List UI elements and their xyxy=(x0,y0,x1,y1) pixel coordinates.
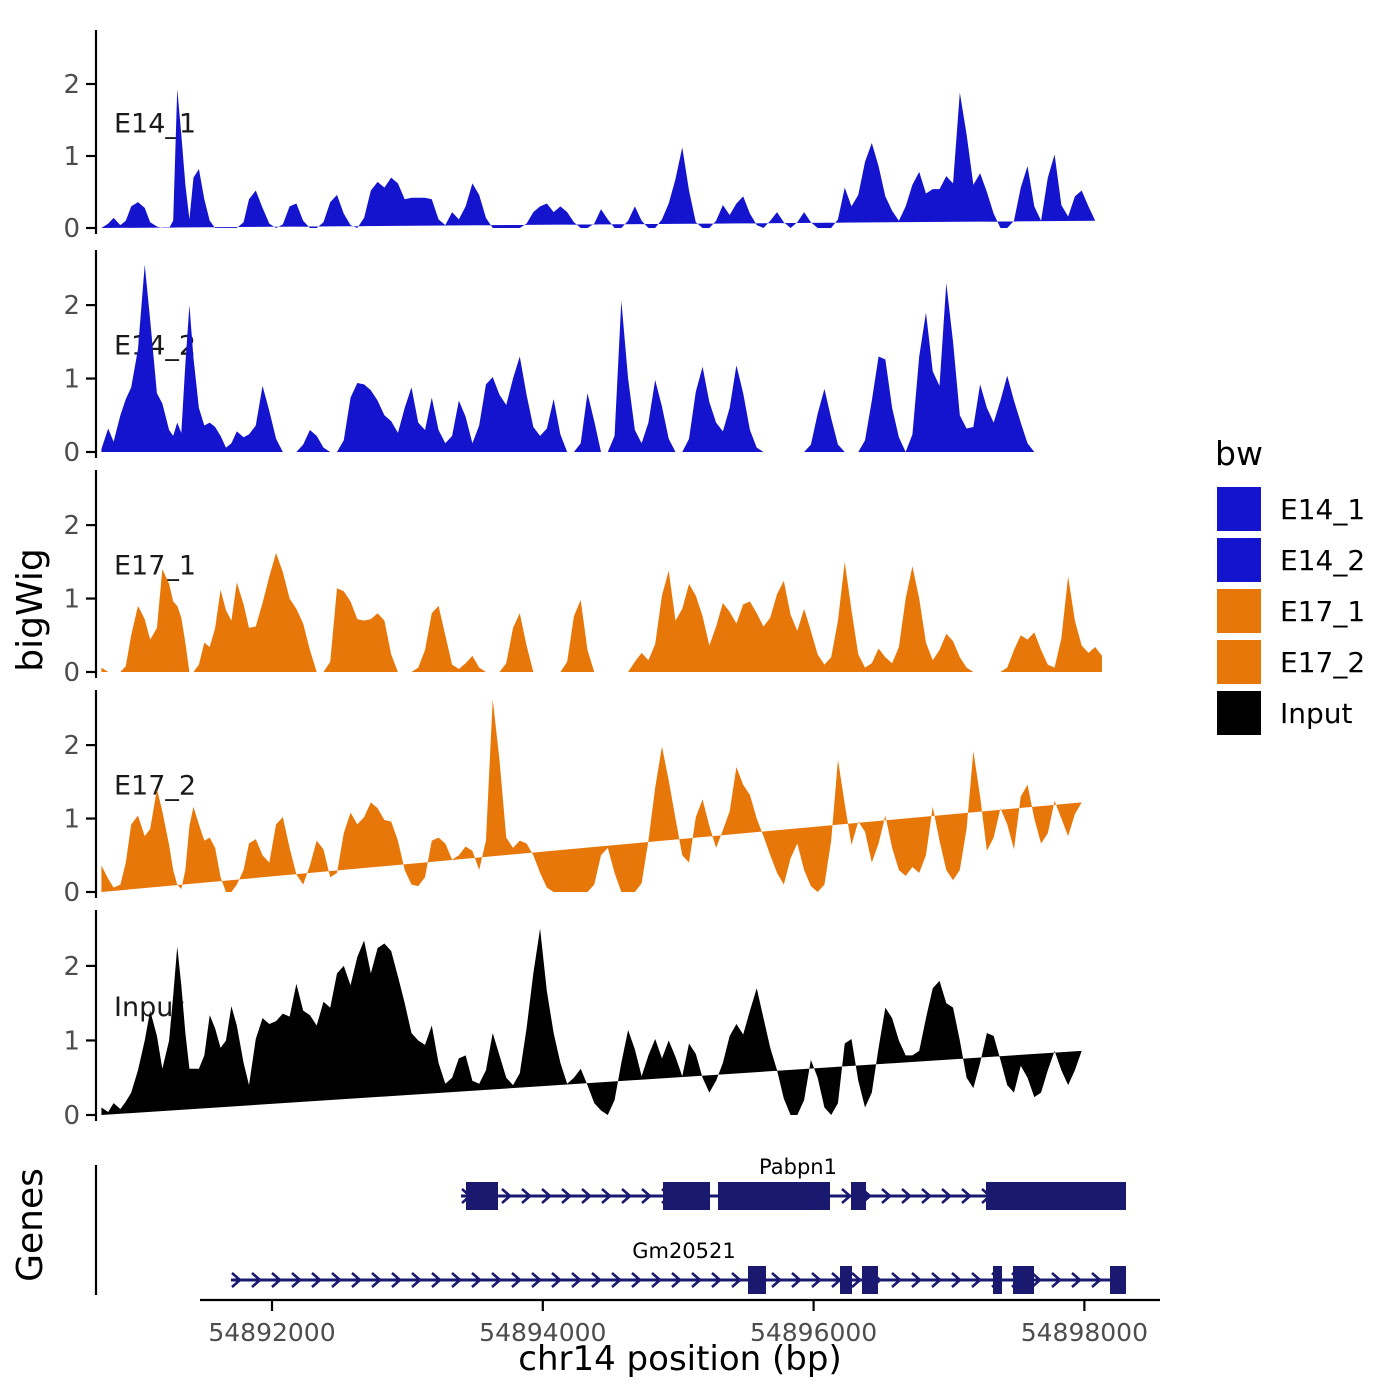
gene-label-pabpn1: Pabpn1 xyxy=(759,1155,837,1179)
legend-swatch-e17_2 xyxy=(1217,640,1261,684)
y-tick-label: 1 xyxy=(63,365,80,395)
exon-pabpn1 xyxy=(986,1182,1126,1210)
exon-gm20521 xyxy=(1013,1266,1034,1294)
legend-label-input: Input xyxy=(1280,697,1353,730)
y-tick-label: 0 xyxy=(63,1101,80,1131)
legend-swatch-e14_1 xyxy=(1217,487,1261,531)
x-tick-label: 54894000 xyxy=(479,1318,606,1347)
legend-item-e14_2[interactable]: E14_2 xyxy=(1217,538,1365,582)
legend-item-input[interactable]: Input xyxy=(1217,691,1353,735)
y-tick-label: 1 xyxy=(63,585,80,615)
x-tick-label: 54898000 xyxy=(1021,1318,1148,1347)
legend-title: bw xyxy=(1215,434,1263,473)
y-tick-label: 1 xyxy=(63,1026,80,1056)
y-tick-label: 2 xyxy=(63,511,80,541)
y-tick-label: 1 xyxy=(63,142,80,172)
y-tick-label: 0 xyxy=(63,878,80,908)
exon-gm20521 xyxy=(748,1266,766,1294)
y-tick-label: 2 xyxy=(63,731,80,761)
legend-item-e17_1[interactable]: E17_1 xyxy=(1217,589,1365,633)
exon-pabpn1 xyxy=(851,1182,866,1210)
genes-axis-title: Genes xyxy=(10,1168,51,1282)
x-tick-label: 54892000 xyxy=(208,1318,335,1347)
exon-gm20521 xyxy=(862,1266,878,1294)
x-tick-label: 54896000 xyxy=(750,1318,877,1347)
gene-label-gm20521: Gm20521 xyxy=(632,1239,736,1263)
panel-label-e17_1: E17_1 xyxy=(114,550,196,581)
y-tick-label: 2 xyxy=(63,952,80,982)
exon-pabpn1 xyxy=(466,1182,498,1210)
panel-label-e17_2: E17_2 xyxy=(114,770,196,801)
genome-browser-figure: bigWig Genes chr14 position (bp) 012E14_… xyxy=(0,0,1400,1400)
legend-label-e14_1: E14_1 xyxy=(1280,493,1365,526)
y-tick-label: 1 xyxy=(63,805,80,835)
exon-gm20521 xyxy=(993,1266,1002,1294)
legend-label-e17_1: E17_1 xyxy=(1280,595,1365,628)
exon-pabpn1 xyxy=(663,1182,710,1210)
exon-gm20521 xyxy=(1110,1266,1126,1294)
y-axis-title: bigWig xyxy=(10,548,51,671)
y-tick-label: 2 xyxy=(63,70,80,100)
y-tick-label: 0 xyxy=(63,438,80,468)
legend-item-e17_2[interactable]: E17_2 xyxy=(1217,640,1365,684)
exon-gm20521 xyxy=(840,1266,852,1294)
y-tick-label: 0 xyxy=(63,214,80,244)
legend-swatch-e17_1 xyxy=(1217,589,1261,633)
y-tick-label: 2 xyxy=(63,291,80,321)
panel-label-e14_2: E14_2 xyxy=(114,330,196,361)
legend-item-e14_1[interactable]: E14_1 xyxy=(1217,487,1365,531)
y-tick-label: 0 xyxy=(63,658,80,688)
legend-label-e17_2: E17_2 xyxy=(1280,646,1365,679)
legend-label-e14_2: E14_2 xyxy=(1280,544,1365,577)
exon-pabpn1 xyxy=(718,1182,830,1210)
legend-swatch-input xyxy=(1217,691,1261,735)
legend-swatch-e14_2 xyxy=(1217,538,1261,582)
panel-label-e14_1: E14_1 xyxy=(114,109,196,140)
